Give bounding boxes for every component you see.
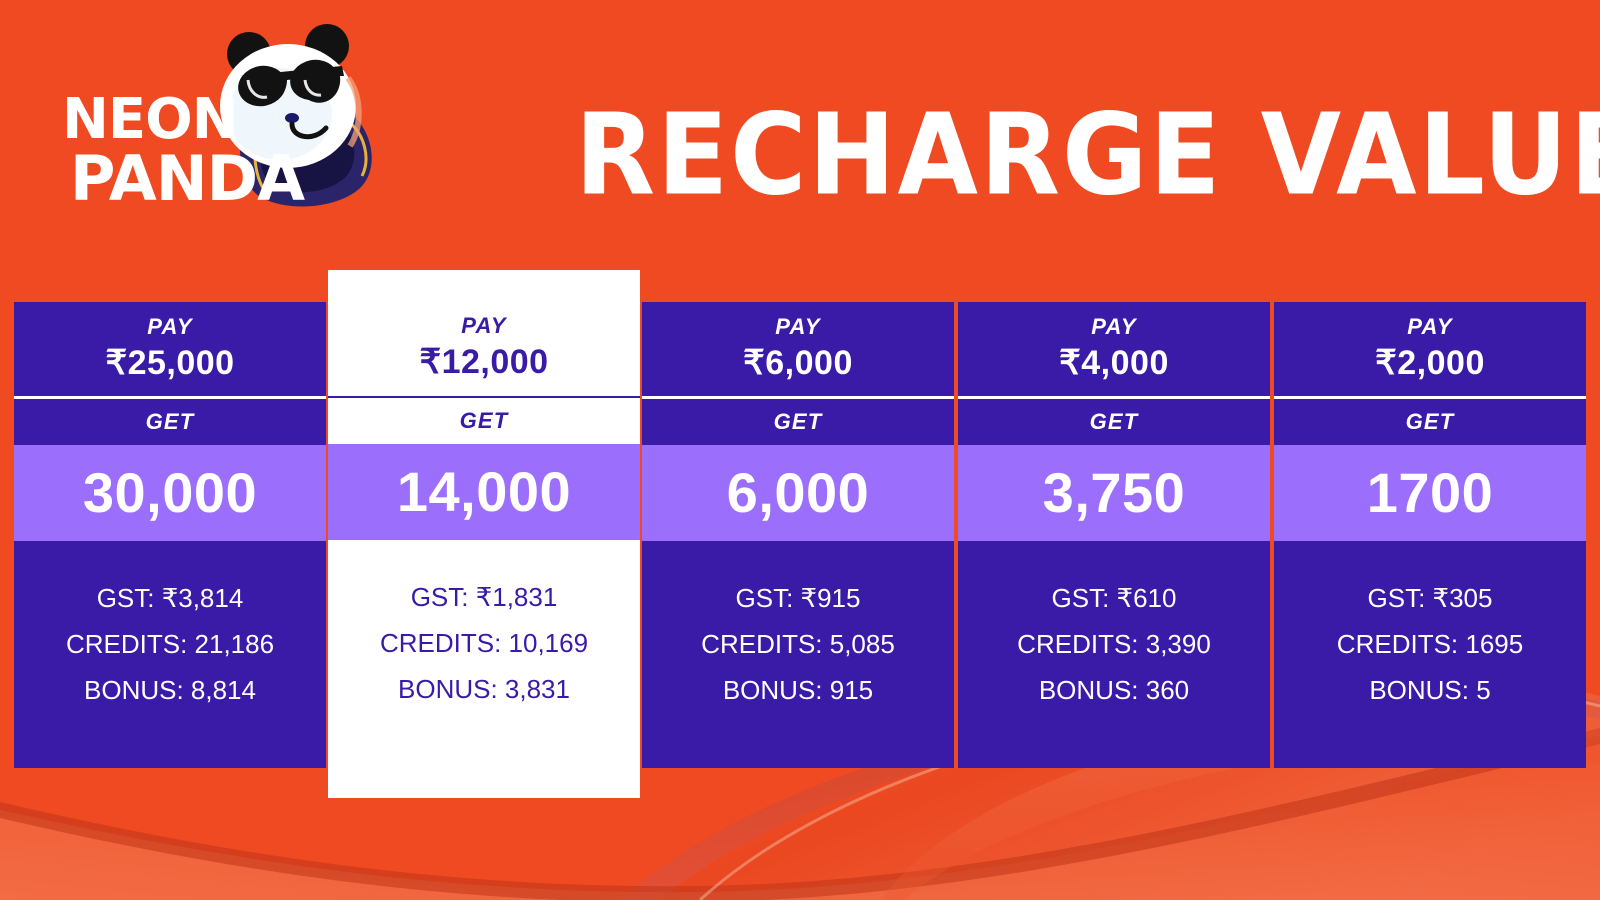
bonus-line: BONUS: 5 [1369,675,1490,705]
pay-section: PAY₹6,000 [642,302,954,396]
pay-label: PAY [1091,314,1137,340]
pay-label: PAY [461,313,507,339]
panda-mascot-icon: NEON PANDA [56,18,396,238]
credits-line: CREDITS: 3,390 [1017,629,1211,659]
credits-line: CREDITS: 1695 [1337,629,1523,659]
pay-label: PAY [147,314,193,340]
pay-amount: ₹4,000 [1059,342,1169,384]
get-label: GET [460,408,509,434]
plan-details: GST: ₹610CREDITS: 3,390BONUS: 360 [958,541,1270,705]
get-amount: 14,000 [397,462,571,522]
get-label: GET [146,409,195,435]
brand-logo[interactable]: NEON PANDA [56,18,396,238]
brand-name-line2: PANDA [70,142,305,215]
gst-line: GST: ₹1,831 [411,582,558,612]
get-label: GET [1406,409,1455,435]
plan-card[interactable]: PAY₹2,000GET1700GST: ₹305CREDITS: 1695BO… [1272,302,1586,768]
gst-line: GST: ₹3,814 [97,583,244,613]
page-header: NEON PANDA RECHARGE VALUE [0,0,1600,268]
pay-section: PAY₹12,000 [328,270,640,396]
pay-label: PAY [775,314,821,340]
pay-amount: ₹12,000 [419,341,548,383]
get-label: GET [774,409,823,435]
gst-line: GST: ₹610 [1052,583,1177,613]
gst-line: GST: ₹915 [736,583,861,613]
get-amount: 1700 [1367,463,1494,523]
pay-section: PAY₹2,000 [1274,302,1586,396]
plan-card[interactable]: PAY₹6,000GET6,000GST: ₹915CREDITS: 5,085… [640,302,956,768]
page-title: RECHARGE VALUE [575,95,1535,214]
plan-details: GST: ₹305CREDITS: 1695BONUS: 5 [1274,541,1586,705]
plan-card[interactable]: PAY₹4,000GET3,750GST: ₹610CREDITS: 3,390… [956,302,1272,768]
bonus-line: BONUS: 8,814 [84,675,256,705]
bonus-line: BONUS: 915 [723,675,873,705]
pay-amount: ₹6,000 [743,342,853,384]
credits-line: CREDITS: 21,186 [66,629,274,659]
pay-amount: ₹25,000 [105,342,234,384]
get-amount-band: 6,000 [642,445,954,541]
pay-section: PAY₹4,000 [958,302,1270,396]
get-label: GET [1090,409,1139,435]
get-section: GET [1274,399,1586,445]
bonus-line: BONUS: 3,831 [398,674,570,704]
credits-line: CREDITS: 5,085 [701,629,895,659]
get-amount: 6,000 [727,463,870,523]
credits-line: CREDITS: 10,169 [380,628,588,658]
gst-line: GST: ₹305 [1368,583,1493,613]
plan-details: GST: ₹3,814CREDITS: 21,186BONUS: 8,814 [14,541,326,705]
get-section: GET [958,399,1270,445]
get-amount-band: 30,000 [14,445,326,541]
pay-amount: ₹2,000 [1375,342,1485,384]
recharge-value-table: PAY₹25,000GET30,000GST: ₹3,814CREDITS: 2… [14,302,1586,768]
get-section: GET [328,398,640,444]
get-amount-band: 14,000 [328,444,640,540]
get-amount: 3,750 [1043,463,1186,523]
plan-card[interactable]: PAY₹25,000GET30,000GST: ₹3,814CREDITS: 2… [14,302,328,768]
get-amount-band: 1700 [1274,445,1586,541]
plan-details: GST: ₹915CREDITS: 5,085BONUS: 915 [642,541,954,705]
plan-details: GST: ₹1,831CREDITS: 10,169BONUS: 3,831 [328,540,640,704]
plan-card-featured[interactable]: PAY₹12,000GET14,000GST: ₹1,831CREDITS: 1… [328,270,640,798]
get-section: GET [14,399,326,445]
get-section: GET [642,399,954,445]
bonus-line: BONUS: 360 [1039,675,1189,705]
pay-section: PAY₹25,000 [14,302,326,396]
get-amount: 30,000 [83,463,257,523]
pay-label: PAY [1407,314,1453,340]
get-amount-band: 3,750 [958,445,1270,541]
